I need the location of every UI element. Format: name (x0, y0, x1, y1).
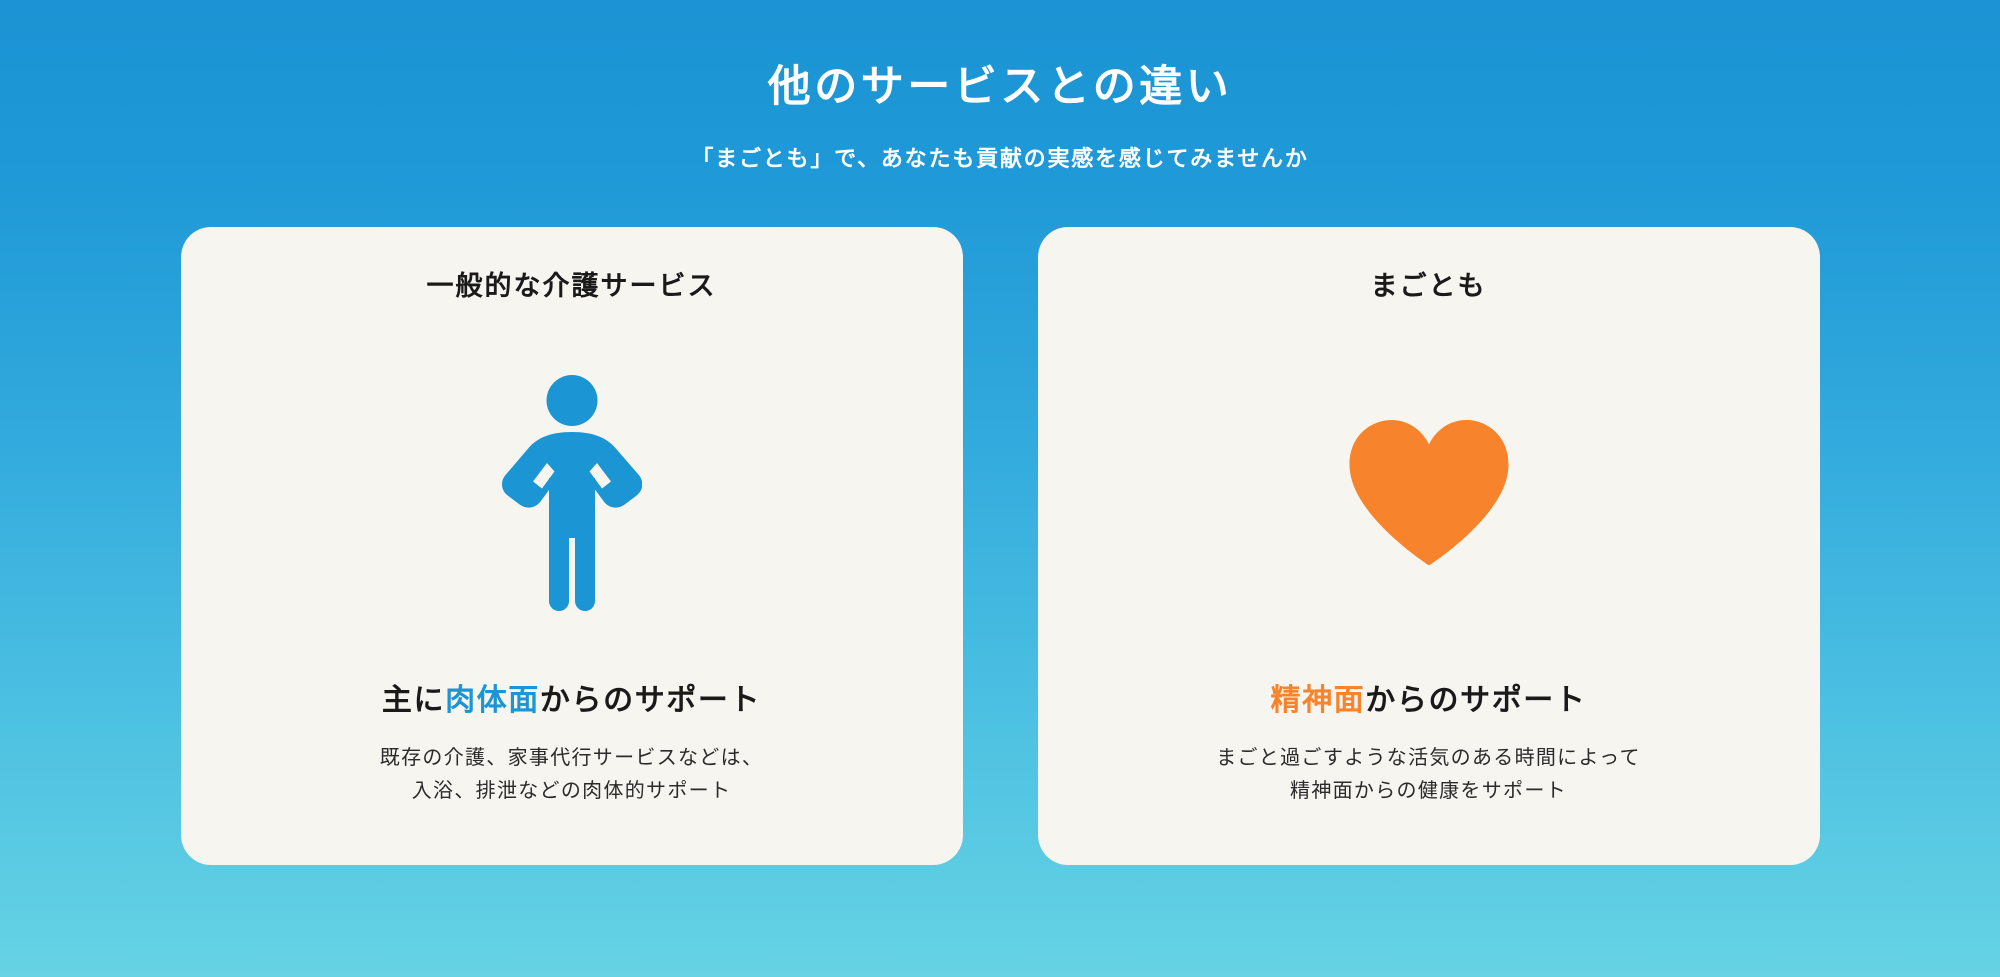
card-heading-prefix-general: 主に (382, 684, 445, 717)
section-subtitle: 「まごとも」で、あなたも貢献の実感を感じてみませんか (0, 142, 2000, 175)
card-general-care-service: 一般的な介護サービス (181, 227, 963, 865)
card-magotomo: まごとも 精神面からのサポート まごと過ごすような活気のある時間によって 精神面… (1038, 227, 1820, 865)
card-body-line-2-magotomo: 精神面からの健康をサポート (1216, 775, 1641, 807)
comparison-cards: 一般的な介護サービス (181, 227, 1820, 865)
card-body-line-1-general: 既存の介護、家事代行サービスなどは、 (380, 742, 763, 774)
card-body-line-1-magotomo: まごと過ごすような活気のある時間によって (1216, 742, 1641, 774)
card-heading-general: 主に肉体面からのサポート (380, 681, 763, 720)
section-header: 他のサービスとの違い 「まごとも」で、あなたも貢献の実感を感じてみませんか (0, 0, 2000, 175)
heart-icon (1349, 420, 1509, 566)
card-heading-magotomo: 精神面からのサポート (1216, 681, 1641, 720)
card-heading-highlight-magotomo: 精神面 (1270, 684, 1365, 717)
card-figure-general (221, 304, 923, 681)
page-title: 他のサービスとの違い (0, 58, 2000, 116)
card-heading-highlight-general: 肉体面 (445, 684, 540, 717)
comparison-section: 他のサービスとの違い 「まごとも」で、あなたも貢献の実感を感じてみませんか 一般… (0, 0, 2000, 977)
person-standing-icon (502, 375, 642, 611)
card-body-line-2-general: 入浴、排泄などの肉体的サポート (380, 775, 763, 807)
card-heading-suffix-magotomo: からのサポート (1365, 684, 1586, 717)
card-heading-suffix-general: からのサポート (540, 684, 761, 717)
card-footer-magotomo: 精神面からのサポート まごと過ごすような活気のある時間によって 精神面からの健康… (1216, 681, 1641, 825)
card-footer-general: 主に肉体面からのサポート 既存の介護、家事代行サービスなどは、 入浴、排泄などの… (380, 681, 763, 825)
card-body-magotomo: まごと過ごすような活気のある時間によって 精神面からの健康をサポート (1216, 742, 1641, 807)
card-figure-magotomo (1078, 304, 1780, 681)
card-label-magotomo: まごとも (1371, 269, 1487, 304)
card-label-general: 一般的な介護サービス (427, 269, 717, 304)
card-body-general: 既存の介護、家事代行サービスなどは、 入浴、排泄などの肉体的サポート (380, 742, 763, 807)
